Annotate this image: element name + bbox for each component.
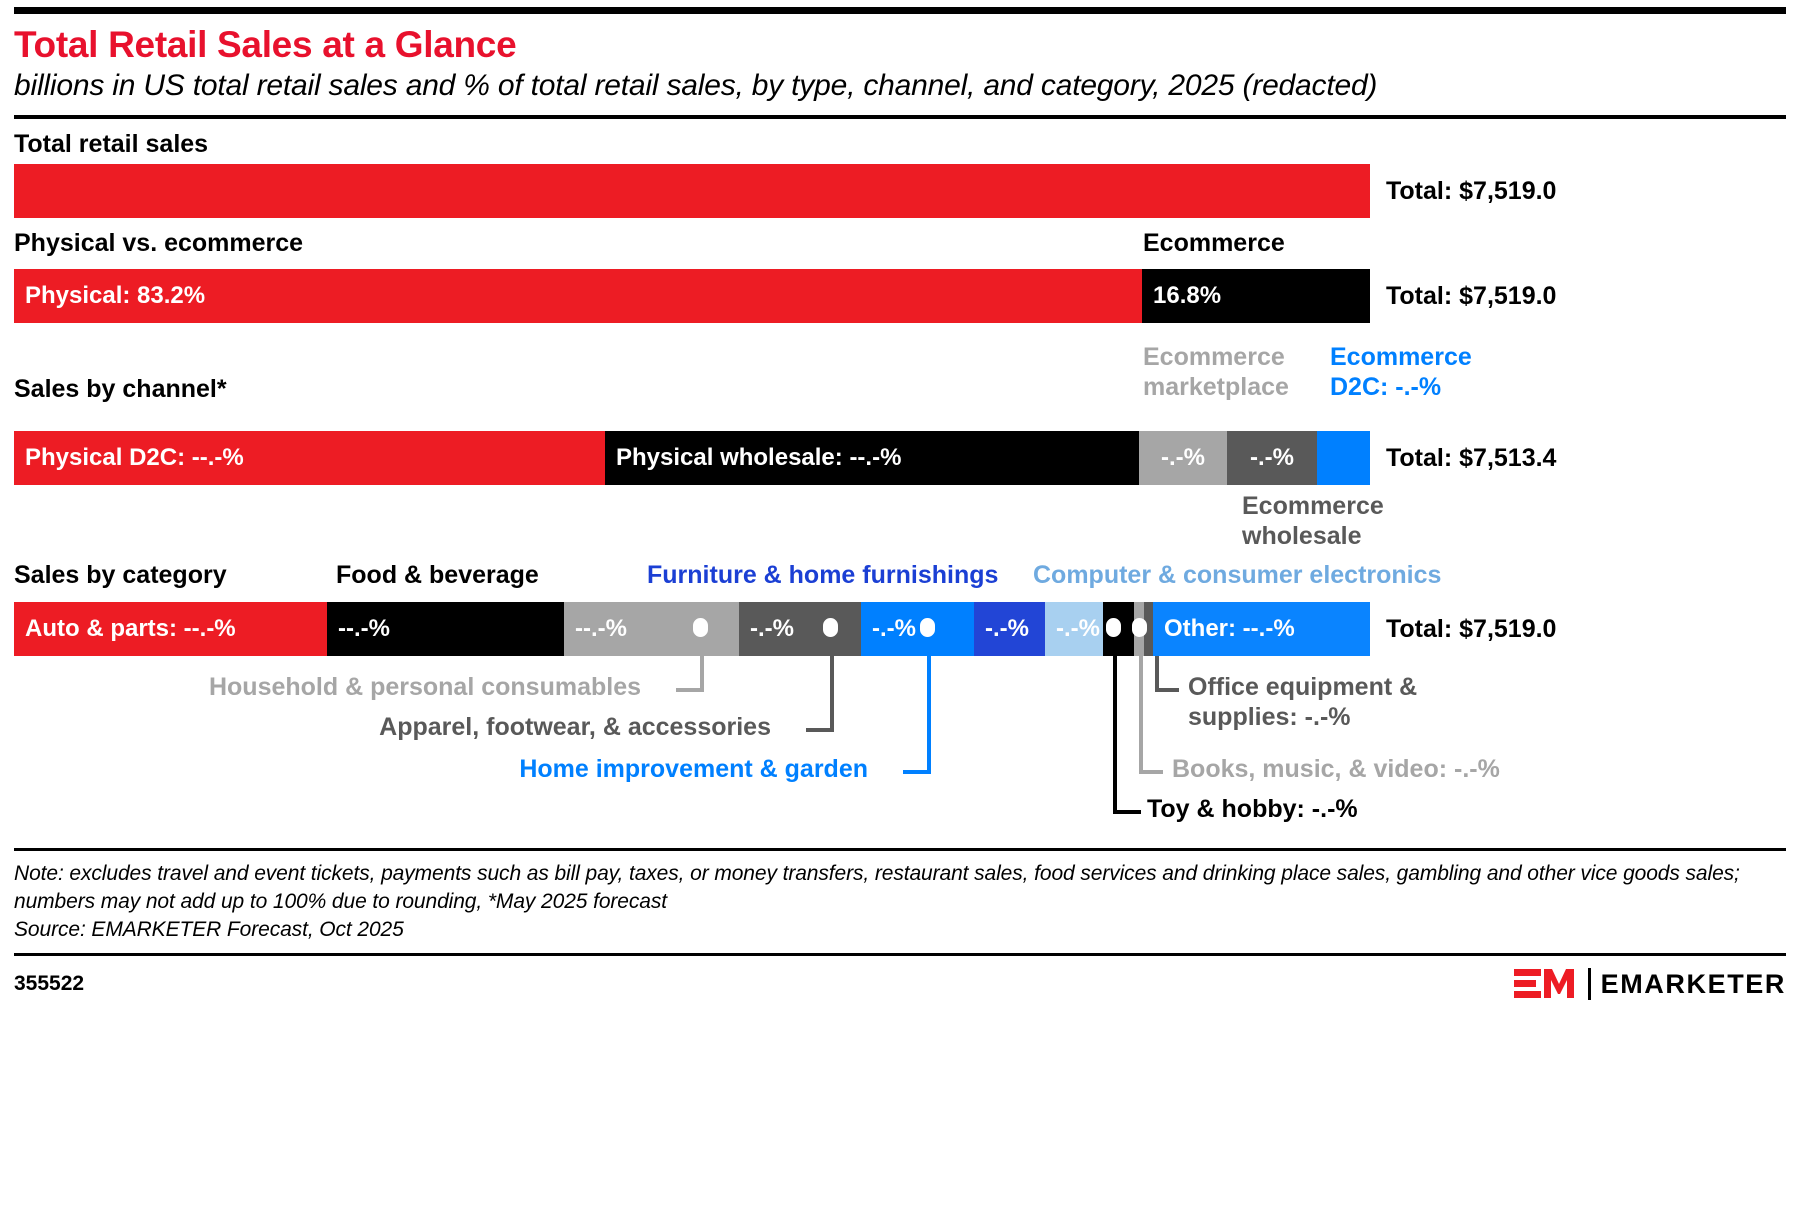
- chart-id: 355522: [14, 972, 84, 996]
- total-label-total-retail: Total: $7,519.0: [1370, 164, 1556, 218]
- bar-total-retail: Total: $7,519.0: [14, 164, 1786, 218]
- callout-elbow-office: [1155, 688, 1179, 692]
- section-by-channel: Sales by channel* Ecommerce marketplace …: [14, 343, 1786, 555]
- emarketer-logo[interactable]: EMARKETER: [1514, 967, 1786, 1001]
- segment-apparel-value: -.-%: [739, 615, 794, 643]
- callout-label-books: Books, music, & video: -.-%: [1172, 755, 1500, 785]
- chart-page: Total Retail Sales at a Glance billions …: [0, 7, 1800, 1223]
- page-title: Total Retail Sales at a Glance: [14, 25, 1786, 65]
- segment-physical-wholesale[interactable]: Physical wholesale: --.-%: [605, 431, 1139, 485]
- callout-group: Household & personal consumables Apparel…: [14, 656, 1786, 876]
- callout-elbow-toy: [1113, 810, 1141, 814]
- footer-bar: 355522 EMARKETER: [14, 967, 1786, 1001]
- label-ecommerce-wholesale: Ecommerce wholesale: [1242, 492, 1422, 551]
- callout-dot-home-improvement: [920, 618, 935, 637]
- segment-other[interactable]: Other: --.-%: [1153, 602, 1370, 656]
- callout-line-books: [1139, 656, 1143, 774]
- label-ecommerce-marketplace: Ecommerce marketplace: [1143, 343, 1315, 402]
- segment-ecommerce-wholesale[interactable]: -.-%: [1227, 431, 1317, 485]
- segment-apparel[interactable]: -.-%: [739, 602, 861, 656]
- callout-label-toy: Toy & hobby: -.-%: [1147, 795, 1358, 825]
- segment-physical-wholesale-value: Physical wholesale: --.-%: [605, 444, 901, 472]
- section-heading-by-category: Sales by category: [14, 561, 227, 590]
- callout-line-toy: [1113, 656, 1117, 814]
- segment-auto-parts-value: Auto & parts: --.-%: [14, 615, 236, 643]
- label-ecommerce: Ecommerce: [1143, 229, 1285, 259]
- bar-by-category: Auto & parts: --.-% --.-% --.-% -.-% -.-…: [14, 602, 1786, 656]
- segment-physical[interactable]: Physical: 83.2%: [14, 269, 1142, 323]
- label-computer: Computer & consumer electronics: [1033, 561, 1441, 591]
- callout-label-home-improvement: Home improvement & garden: [519, 755, 868, 785]
- total-label-physical-vs-ecommerce: Total: $7,519.0: [1370, 269, 1556, 323]
- segment-furniture[interactable]: -.-%: [974, 602, 1045, 656]
- em-logo-icon: [1514, 967, 1578, 1001]
- segment-ecommerce-d2c[interactable]: [1317, 431, 1370, 485]
- page-subtitle: billions in US total retail sales and % …: [14, 67, 1734, 105]
- segment-household-value: --.-%: [564, 615, 627, 643]
- section-total-retail: Total retail sales Total: $7,519.0: [14, 130, 1786, 218]
- callout-dot-books: [1132, 618, 1147, 637]
- segment-home-improvement-value: -.-%: [861, 615, 916, 643]
- segment-household[interactable]: --.-%: [564, 602, 739, 656]
- segment-computer-electronics-value: -.-%: [1045, 615, 1100, 643]
- label-furniture: Furniture & home furnishings: [647, 561, 998, 591]
- segment-ecommerce-marketplace-value: -.-%: [1139, 444, 1227, 472]
- total-label-by-channel: Total: $7,513.4: [1370, 431, 1556, 485]
- chart-source: Source: EMARKETER Forecast, Oct 2025: [14, 916, 1786, 944]
- bar-physical-vs-ecommerce: Physical: 83.2% 16.8% Total: $7,519.0: [14, 269, 1786, 323]
- callout-line-household: [700, 656, 704, 692]
- callout-dot-apparel: [823, 618, 838, 637]
- callout-elbow-books: [1139, 770, 1163, 774]
- bar-by-channel: Physical D2C: --.-% Physical wholesale: …: [14, 431, 1786, 485]
- callout-line-office: [1155, 656, 1159, 692]
- callout-elbow-household: [676, 688, 704, 692]
- top-rule: [14, 7, 1786, 14]
- segment-furniture-value: -.-%: [974, 615, 1029, 643]
- section-by-category: Sales by category Food & beverage Furnit…: [14, 561, 1786, 876]
- segment-ecommerce-value: 16.8%: [1142, 282, 1221, 310]
- section-heading-total-retail: Total retail sales: [14, 130, 1786, 159]
- total-label-by-category: Total: $7,519.0: [1370, 602, 1556, 656]
- segment-food-beverage[interactable]: --.-%: [327, 602, 564, 656]
- callout-elbow-home-improvement: [903, 770, 931, 774]
- section-heading-by-channel: Sales by channel*: [14, 375, 227, 404]
- segment-food-beverage-value: --.-%: [327, 615, 390, 643]
- segment-ecommerce-marketplace[interactable]: -.-%: [1139, 431, 1227, 485]
- segment-physical-value: Physical: 83.2%: [14, 282, 205, 310]
- label-ecommerce-d2c: Ecommerce D2C: -.-%: [1330, 343, 1520, 402]
- segment-physical-d2c-value: Physical D2C: --.-%: [14, 444, 244, 472]
- segment-ecommerce[interactable]: 16.8%: [1142, 269, 1370, 323]
- logo-divider: [1588, 968, 1591, 1000]
- header-divider: [14, 115, 1786, 119]
- segment-physical-d2c[interactable]: Physical D2C: --.-%: [14, 431, 605, 485]
- callout-dot-household: [693, 618, 708, 637]
- callout-line-apparel: [830, 656, 834, 732]
- bottom-rule: [14, 953, 1786, 956]
- brand-name: EMARKETER: [1601, 969, 1786, 1000]
- segment-total-retail[interactable]: [14, 164, 1370, 218]
- segment-other-value: Other: --.-%: [1153, 615, 1295, 643]
- segment-computer-electronics[interactable]: -.-%: [1045, 602, 1103, 656]
- segment-home-improvement[interactable]: -.-%: [861, 602, 974, 656]
- section-physical-vs-ecommerce: Physical vs. ecommerce Ecommerce Physica…: [14, 229, 1786, 323]
- callout-dot-toy: [1106, 618, 1121, 637]
- segment-ecommerce-wholesale-value: -.-%: [1227, 444, 1317, 472]
- callout-label-office: Office equipment & supplies: -.-%: [1188, 673, 1468, 732]
- callout-line-home-improvement: [927, 656, 931, 774]
- callout-label-household: Household & personal consumables: [209, 673, 641, 703]
- callout-elbow-apparel: [806, 728, 834, 732]
- label-food-beverage: Food & beverage: [336, 561, 539, 591]
- section-heading-physical-vs-ecommerce: Physical vs. ecommerce: [14, 229, 303, 258]
- segment-auto-parts[interactable]: Auto & parts: --.-%: [14, 602, 327, 656]
- callout-label-apparel: Apparel, footwear, & accessories: [379, 713, 771, 743]
